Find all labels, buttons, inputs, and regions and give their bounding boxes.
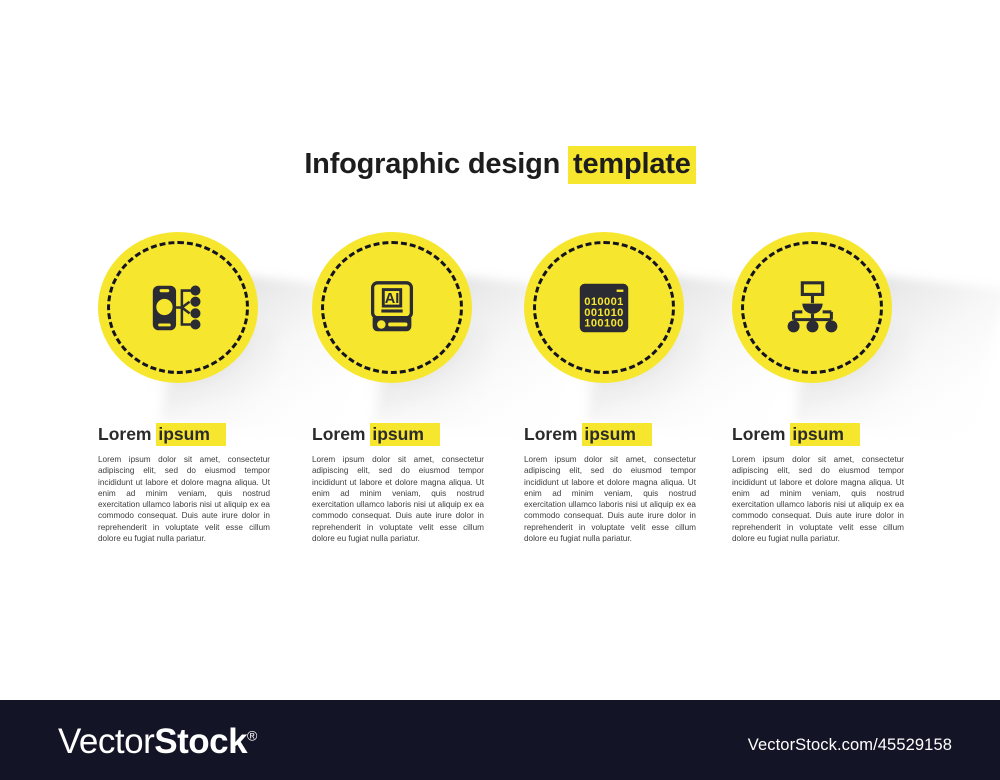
logo-text-light: Vector: [58, 722, 154, 761]
caption-highlight-1: ipsum: [156, 423, 226, 446]
page-title-text: Infographic design template: [304, 148, 695, 181]
vectorstock-url: VectorStock.com/45529158: [748, 736, 952, 755]
caption-highlight-3: ipsum: [582, 423, 652, 446]
page-title-plain: Infographic design: [304, 148, 568, 180]
watermark-footer: VectorStock® VectorStock.com/45529158: [0, 700, 1000, 780]
infographic-column-2: AI Lorem ipsum Lorem ipsum dolor sit ame…: [312, 232, 522, 392]
neural-hierarchy-icon: [781, 277, 843, 339]
column-caption-1: Lorem ipsum: [98, 424, 226, 445]
caption-plain-3: Lorem: [524, 424, 582, 444]
infographic-column-3: 010001 001010 100100 Lorem ipsum Lorem i…: [524, 232, 734, 392]
ai-book-icon: AI: [361, 277, 423, 339]
vectorstock-logo: VectorStock®: [58, 722, 257, 762]
registered-trademark-icon: ®: [247, 727, 257, 743]
badge-circle-3[interactable]: 010001 001010 100100: [524, 232, 684, 383]
badge-wrapper-4: [732, 232, 907, 392]
column-caption-2: Lorem ipsum: [312, 424, 440, 445]
column-body-text-2: Lorem ipsum dolor sit amet, consectetur …: [312, 454, 484, 544]
logo-text-bold: Stock: [154, 722, 247, 761]
badge-wrapper-2: AI: [312, 232, 487, 392]
column-body-text-3: Lorem ipsum dolor sit amet, consectetur …: [524, 454, 696, 544]
infographic-columns: Lorem ipsum Lorem ipsum dolor sit amet, …: [0, 232, 1000, 592]
caption-plain-2: Lorem: [312, 424, 370, 444]
badge-circle-4[interactable]: [732, 232, 892, 383]
page-title-highlight: template: [568, 146, 696, 184]
badge-circle-1[interactable]: [98, 232, 258, 383]
badge-circle-2[interactable]: AI: [312, 232, 472, 383]
infographic-column-1: Lorem ipsum Lorem ipsum dolor sit amet, …: [98, 232, 308, 392]
badge-wrapper-3: 010001 001010 100100: [524, 232, 699, 392]
binary-code-icon: 010001 001010 100100: [573, 277, 635, 339]
caption-plain-4: Lorem: [732, 424, 790, 444]
page-title: Infographic design template: [0, 148, 1000, 181]
mobile-network-nodes-icon: [147, 277, 209, 339]
column-body-text-1: Lorem ipsum dolor sit amet, consectetur …: [98, 454, 270, 544]
svg-text:100100: 100100: [584, 317, 623, 329]
caption-plain-1: Lorem: [98, 424, 156, 444]
svg-text:AI: AI: [385, 291, 400, 307]
column-body-text-4: Lorem ipsum dolor sit amet, consectetur …: [732, 454, 904, 544]
badge-wrapper-1: [98, 232, 273, 392]
caption-highlight-2: ipsum: [370, 423, 440, 446]
column-caption-4: Lorem ipsum: [732, 424, 860, 445]
caption-highlight-4: ipsum: [790, 423, 860, 446]
infographic-column-4: Lorem ipsum Lorem ipsum dolor sit amet, …: [732, 232, 942, 392]
column-caption-3: Lorem ipsum: [524, 424, 652, 445]
infographic-canvas: Infographic design template: [0, 0, 1000, 780]
